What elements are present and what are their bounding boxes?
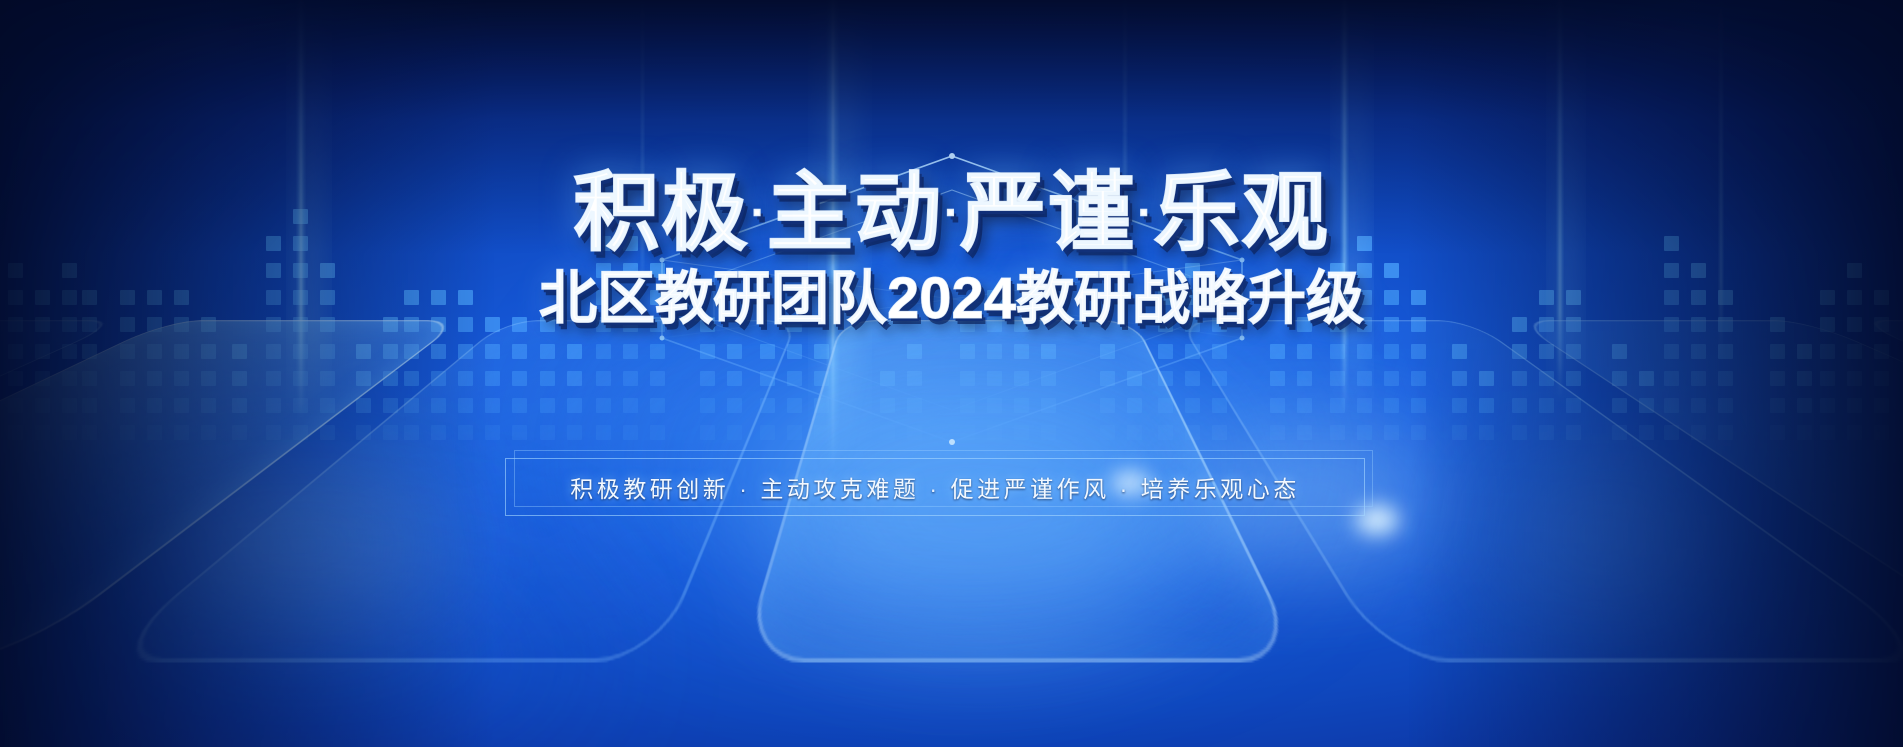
- tagline-separator-2: ·: [919, 476, 950, 502]
- tagline-item-3: 促进严谨作风: [951, 476, 1110, 502]
- title-separator-2: ·: [943, 191, 960, 235]
- title-part-4: 乐观: [1153, 165, 1329, 261]
- title-separator-1: ·: [750, 191, 767, 235]
- banner-canvas: 积极·主动·严谨·乐观 北区教研团队2024教研战略升级 积极教研创新·主动攻克…: [0, 0, 1903, 747]
- tagline-item-1: 积极教研创新: [570, 476, 729, 502]
- tagline-item-2: 主动攻克难题: [760, 476, 919, 502]
- tagline-text: 积极教研创新·主动攻克难题·促进严谨作风·培养乐观心态: [570, 470, 1300, 504]
- page-subtitle: 北区教研团队2024教研战略升级: [0, 270, 1903, 328]
- title-part-1: 积极: [574, 165, 750, 261]
- title-part-2: 主动: [767, 165, 943, 261]
- tagline-separator-1: ·: [729, 476, 760, 502]
- tagline-box: 积极教研创新·主动攻克难题·促进严谨作风·培养乐观心态: [505, 458, 1365, 516]
- headline-group: 积极·主动·严谨·乐观 北区教研团队2024教研战略升级: [0, 170, 1903, 328]
- title-part-3: 严谨: [960, 165, 1136, 261]
- tagline-item-4: 培养乐观心态: [1141, 476, 1300, 502]
- title-separator-3: ·: [1136, 191, 1153, 235]
- page-title: 积极·主动·严谨·乐观: [0, 170, 1903, 256]
- tagline-separator-3: ·: [1110, 476, 1141, 502]
